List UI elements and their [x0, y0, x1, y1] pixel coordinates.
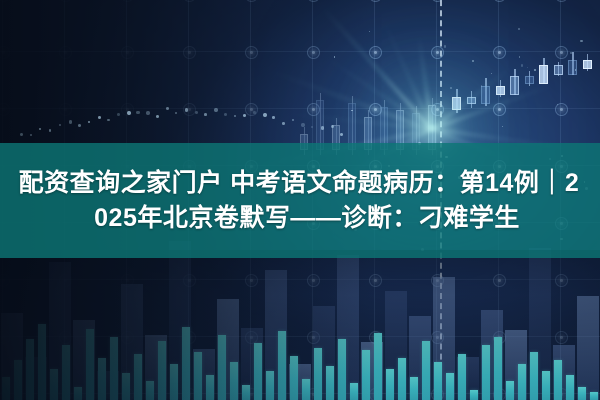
- speckle-dot: [282, 122, 285, 125]
- speckle-dot: [224, 113, 227, 116]
- speckle-dot: [521, 64, 523, 66]
- speckle-dot: [107, 119, 109, 121]
- speckle-dot: [30, 134, 33, 137]
- speckle-dot: [88, 121, 90, 123]
- speckle-dot: [534, 69, 536, 71]
- speckle-dot: [331, 125, 334, 128]
- speckle-dot: [340, 133, 343, 136]
- speckle-dot: [519, 56, 520, 57]
- speckle-dot: [214, 108, 218, 112]
- speckle-dot: [557, 104, 558, 105]
- speckle-dot: [301, 123, 305, 127]
- speckle-dot: [351, 110, 353, 112]
- speckle-dot: [136, 111, 139, 114]
- speckle-dot: [491, 73, 493, 75]
- speckle-dot: [204, 113, 207, 116]
- speckle-dot: [570, 52, 572, 54]
- speckle-dot: [20, 133, 23, 136]
- speckle-dot: [263, 113, 267, 117]
- speckle-dot: [253, 111, 256, 114]
- speckle-dot: [175, 112, 177, 114]
- speckle-dot: [234, 115, 236, 117]
- speckle-dot: [444, 45, 447, 48]
- speckle-dot: [59, 124, 61, 126]
- speckle-dot: [481, 85, 483, 87]
- headline-text-block: 配资查询之家门户 中考语文命题病历：第14例｜2 025年北京卷默写——诊断：刁…: [0, 143, 600, 258]
- speckle-dot: [518, 28, 520, 30]
- speckle-dot: [334, 56, 335, 57]
- speckle-dot: [272, 116, 275, 119]
- speckle-dot: [311, 126, 313, 128]
- speckle-dot: [156, 115, 160, 119]
- speckle-dot: [166, 107, 169, 110]
- headline-line-2: 025年北京卷默写——诊断：刁难学生: [94, 204, 520, 233]
- speckle-dot: [527, 67, 528, 68]
- speckle-dot: [502, 126, 503, 127]
- speckle-dot: [78, 124, 81, 127]
- speckle-dot: [369, 31, 371, 33]
- speckle-dot: [39, 128, 41, 130]
- speckle-dot: [450, 87, 453, 90]
- speckle-dot: [292, 119, 294, 121]
- headline-line-1: 配资查询之家门户 中考语文命题病历：第14例｜2: [19, 169, 580, 198]
- speckle-dot: [98, 116, 101, 119]
- speckle-dot: [472, 60, 474, 62]
- speckle-dot: [321, 126, 325, 130]
- speckle-dot: [69, 120, 73, 124]
- speckle-dot: [580, 40, 582, 42]
- speckle-dot: [243, 114, 246, 117]
- speckle-dot: [146, 111, 150, 115]
- speckle-dot: [49, 129, 51, 131]
- speckle-dot: [575, 69, 577, 71]
- speckle-dot: [127, 111, 131, 115]
- speckle-dot: [195, 111, 198, 114]
- speckle-dot: [185, 108, 188, 111]
- banner-image: 配资查询之家门户 中考语文命题病历：第14例｜2 025年北京卷默写——诊断：刁…: [0, 0, 600, 400]
- speckle-dot: [117, 113, 120, 116]
